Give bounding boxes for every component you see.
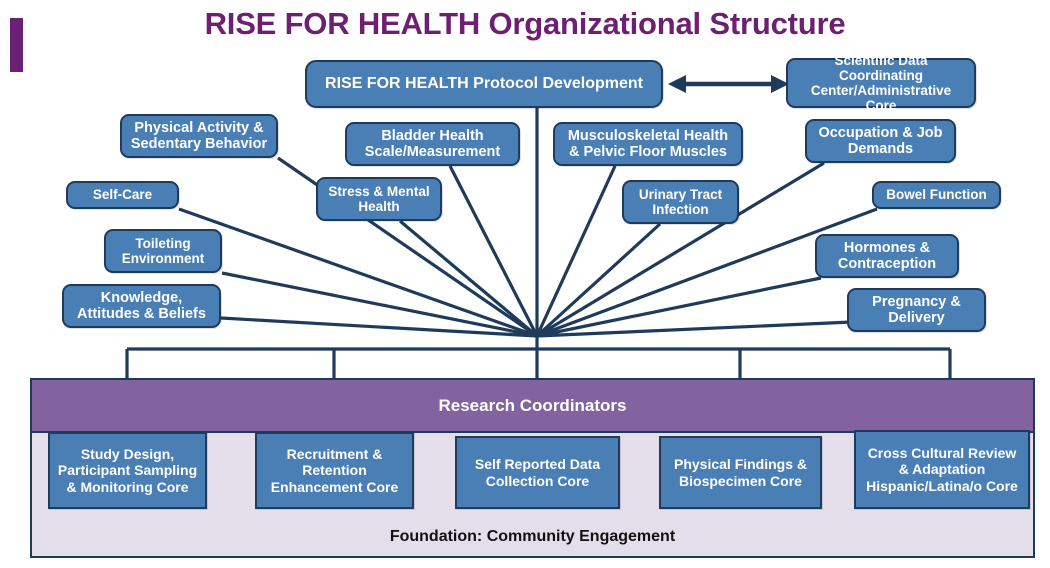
node-protocol-development[interactable]: RISE FOR HEALTH Protocol Development (305, 60, 663, 108)
connector-bladder-health-scale (450, 166, 537, 336)
node-physical-activity[interactable]: Physical Activity & Sedentary Behavior (120, 114, 278, 158)
foundation-label: Foundation: Community Engagement (30, 521, 1035, 553)
connector-hormones-contraception (537, 278, 821, 336)
node-hormones-contraception[interactable]: Hormones & Contraception (815, 234, 959, 278)
node-pregnancy-delivery[interactable]: Pregnancy & Delivery (847, 288, 986, 332)
connector-pregnancy-delivery (537, 322, 852, 336)
research-coordinators-band: Research Coordinators (30, 378, 1035, 433)
connector-musculoskeletal (537, 166, 615, 336)
node-scientific-data-coordinating-center[interactable]: Scientific Data Coordinating Center/Admi… (786, 58, 976, 108)
node-cross-cultural-core[interactable]: Cross Cultural Review & Adaptation Hispa… (854, 430, 1030, 509)
connector-knowledge-attitudes (221, 318, 537, 336)
connector-self-care (179, 209, 537, 336)
page-title: RISE FOR HEALTH Organizational Structure (0, 2, 1050, 46)
node-toileting-environment[interactable]: Toileting Environment (104, 229, 222, 273)
node-self-care[interactable]: Self-Care (66, 181, 179, 209)
connector-toileting-environment (222, 273, 537, 336)
node-urinary-tract-infection[interactable]: Urinary Tract Infection (622, 180, 739, 224)
node-occupation-job-demands[interactable]: Occupation & Job Demands (805, 119, 956, 163)
node-self-reported-core[interactable]: Self Reported Data Collection Core (455, 436, 620, 509)
node-physical-findings-core[interactable]: Physical Findings & Biospecimen Core (659, 436, 822, 509)
node-knowledge-attitudes[interactable]: Knowledge, Attitudes & Beliefs (62, 284, 221, 328)
connector-urinary-tract-infection (537, 224, 660, 336)
double-headed-arrow-icon (668, 75, 789, 93)
connector-stress-mental-health (400, 221, 537, 336)
node-recruitment-core[interactable]: Recruitment & Retention Enhancement Core (255, 432, 414, 509)
node-bowel-function[interactable]: Bowel Function (872, 181, 1001, 209)
node-bladder-health-scale[interactable]: Bladder Health Scale/Measurement (345, 122, 520, 166)
fan-connector-lines (179, 158, 877, 336)
node-study-design-core[interactable]: Study Design, Participant Sampling & Mon… (48, 432, 207, 509)
node-stress-mental-health[interactable]: Stress & Mental Health (316, 177, 442, 221)
node-musculoskeletal[interactable]: Musculoskeletal Health & Pelvic Floor Mu… (553, 122, 743, 166)
org-chart-diagram: RISE FOR HEALTH Organizational Structure… (0, 0, 1050, 568)
